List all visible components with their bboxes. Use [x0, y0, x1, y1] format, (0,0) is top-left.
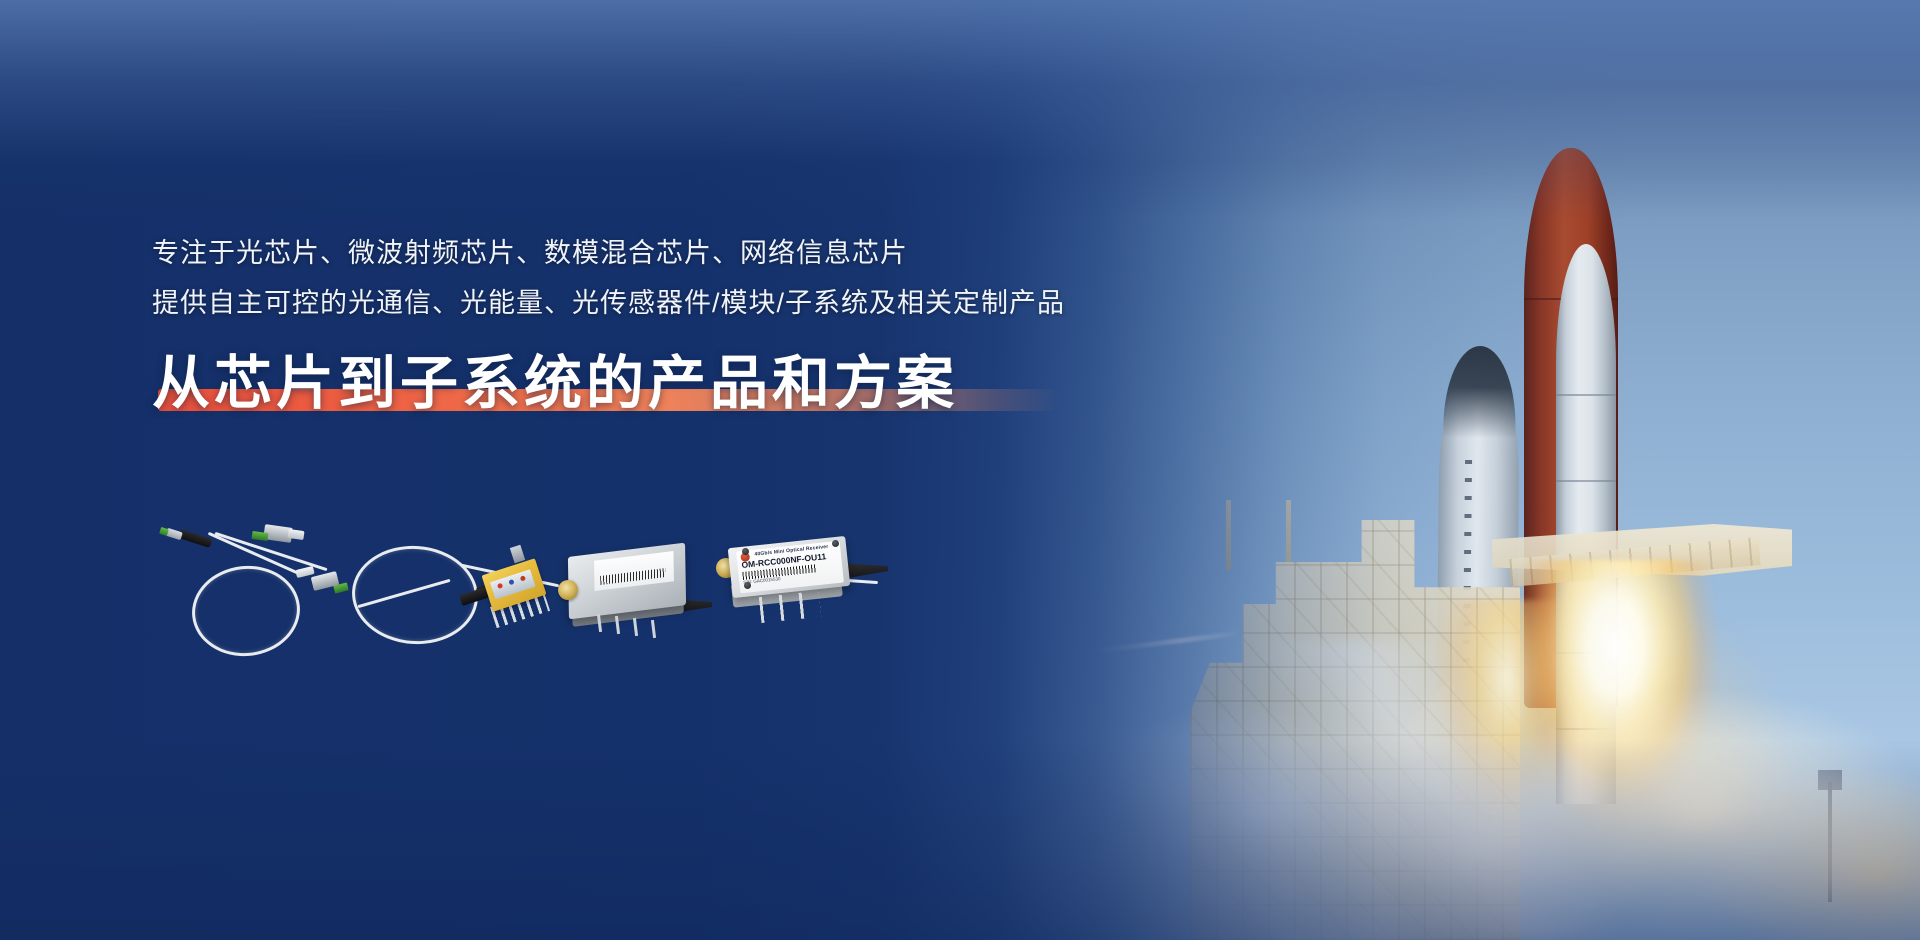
hero-headline-wrap: 从芯片到子系统的产品和方案 — [152, 350, 958, 418]
sma-rf-connector — [558, 580, 578, 600]
connector-boot — [177, 529, 212, 548]
blue-color-overlay — [0, 0, 1920, 940]
housing-screw — [742, 548, 749, 555]
hero-subhead-line-1: 专注于光芯片、微波射频芯片、数模混合芯片、网络信息芯片 — [152, 228, 1152, 278]
hero-headline: 从芯片到子系统的产品和方案 — [152, 350, 958, 418]
hero-subhead-line-2: 提供自主可控的光通信、光能量、光传感器件/模块/子系统及相关定制产品 — [152, 278, 1152, 328]
fiber-coil — [188, 561, 305, 662]
product-photo-row: 40Gb/s Mini Optical Receiver OM-RCC000NF… — [160, 528, 1020, 668]
apc-connector — [252, 531, 269, 541]
rf-pin — [510, 545, 525, 564]
hero-banner: 专注于光芯片、微波射频芯片、数模混合芯片、网络信息芯片 提供自主可控的光通信、光… — [0, 0, 1920, 940]
module-pin — [633, 618, 638, 636]
apc-connector — [333, 582, 349, 593]
housing-screw — [832, 540, 839, 547]
housing-screw — [744, 582, 751, 589]
module-pin — [651, 620, 656, 638]
module-pins — [759, 591, 821, 623]
hero-copy: 专注于光芯片、微波射频芯片、数模混合芯片、网络信息芯片 提供自主可控的光通信、光… — [152, 228, 1152, 418]
